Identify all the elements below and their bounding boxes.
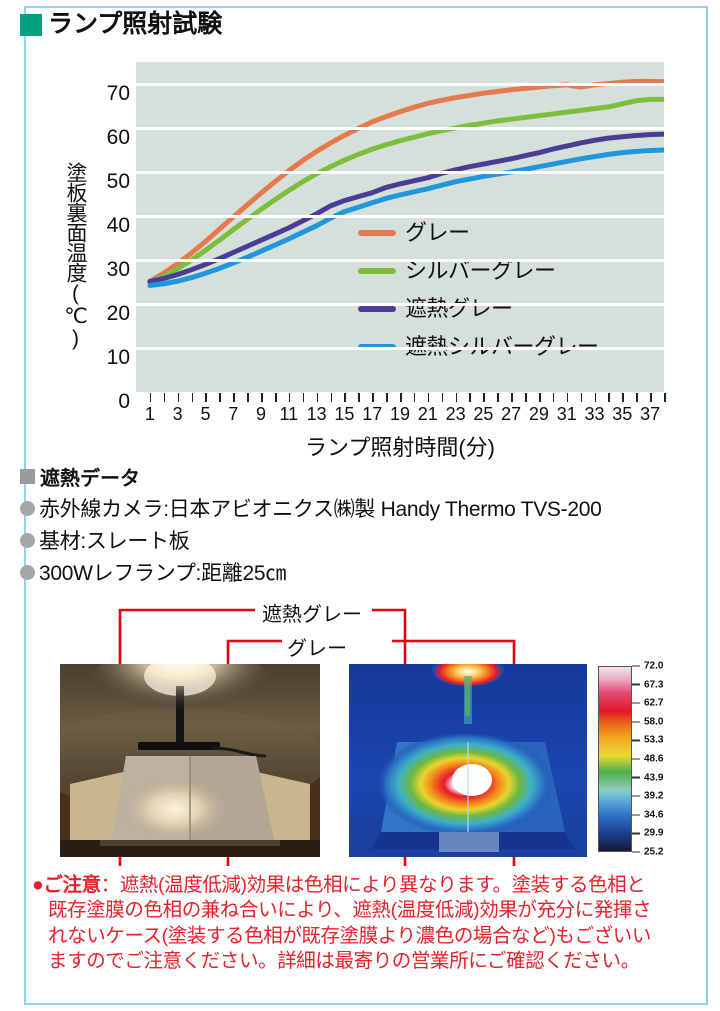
- x-tickmark-18: [386, 393, 388, 402]
- x-tick-23: 23: [446, 404, 466, 425]
- x-tickmark-32: [581, 393, 583, 402]
- data-heading-square-icon: [20, 469, 35, 484]
- x-tickmark-36: [636, 393, 638, 402]
- page-title: ランプ照射試験: [20, 12, 222, 37]
- lamp-test-photo-image: [60, 664, 320, 857]
- thermal-tick-label: 62.7: [644, 698, 663, 709]
- x-tick-29: 29: [529, 404, 549, 425]
- y-tick-30: 30: [107, 258, 130, 282]
- x-tickmark-15: [344, 393, 346, 402]
- x-tickmark-11: [289, 393, 291, 402]
- caution-line-1: ●ご注意：遮熱(温度低減)効果は色相により異なります。塗装する色相と: [32, 873, 672, 898]
- callout-label-gray: グレー: [283, 632, 351, 661]
- page-title-text: ランプ照射試験: [48, 12, 222, 37]
- gridline-40: [136, 215, 664, 218]
- caution-separator: ：: [101, 874, 120, 896]
- thermal-tick-mark-icon: [632, 851, 640, 853]
- caution-heading: ご注意: [43, 874, 100, 896]
- chart-x-axis-tickmarks: [136, 393, 664, 403]
- x-tick-5: 5: [200, 404, 210, 425]
- gridline-20: [136, 303, 664, 306]
- x-tick-21: 21: [418, 404, 438, 425]
- x-tick-37: 37: [640, 404, 660, 425]
- chart-y-axis-title: 塗板裏面温度(℃): [60, 162, 86, 349]
- title-square-icon: [20, 14, 42, 36]
- bullet-dot-icon: [20, 565, 35, 580]
- caution-line-3: れないケース(塗装する色相が既存塗膜より濃色の場合など)もございい: [48, 924, 672, 949]
- y-tick-60: 60: [107, 126, 130, 150]
- thermal-scale-tick-62.7: 62.7: [632, 698, 663, 709]
- x-tickmark-21: [428, 393, 430, 402]
- thermal-tick-label: 58.0: [644, 716, 663, 727]
- data-item-substrate: 基材:スレート板: [20, 525, 680, 555]
- thermal-tick-label: 67.3: [644, 679, 663, 690]
- legend-item-heat-shield-gray: 遮熱グレー: [358, 290, 599, 328]
- x-tick-27: 27: [501, 404, 521, 425]
- x-tick-15: 15: [334, 404, 354, 425]
- y-tick-0: 0: [118, 390, 130, 414]
- gridline-30: [136, 259, 664, 262]
- bullet-dot-icon: [20, 533, 35, 548]
- x-tick-35: 35: [612, 404, 632, 425]
- data-item-camera: 赤外線カメラ:日本アビオニクス㈱製 Handy Thermo TVS-200: [20, 493, 680, 523]
- legend-swatch-gray: [358, 230, 396, 236]
- data-heading-text: 遮熱データ: [40, 462, 140, 491]
- thermal-tick-label: 43.9: [644, 772, 663, 783]
- x-tickmark-33: [595, 393, 597, 402]
- thermal-tick-mark-icon: [632, 740, 640, 742]
- x-tickmark-2: [164, 393, 166, 402]
- x-tick-25: 25: [473, 404, 493, 425]
- gridline-50: [136, 171, 664, 174]
- x-tickmark-3: [178, 393, 180, 402]
- caution-text-1: 遮熱(温度低減)効果は色相により異なります。塗装する色相と: [120, 874, 646, 896]
- x-tickmark-22: [442, 393, 444, 402]
- chart-legend: グレー シルバーグレー 遮熱グレー 遮熱シルバーグレー: [358, 214, 599, 366]
- data-item-lamp-text: 300Wレフランプ:距離25㎝: [39, 557, 286, 587]
- thermal-scale-tick-53.3: 53.3: [632, 735, 663, 746]
- thermal-tick-mark-icon: [632, 777, 640, 779]
- x-tickmark-29: [539, 393, 541, 402]
- thermal-scale-tick-58.0: 58.0: [632, 716, 663, 727]
- thermal-image-photo: [349, 664, 587, 857]
- legend-label-heat-shield-gray: 遮熱グレー: [405, 298, 513, 320]
- x-tick-33: 33: [585, 404, 605, 425]
- x-tickmark-8: [247, 393, 249, 402]
- caution-bullet-icon: ●: [32, 874, 43, 896]
- gridline-70: [136, 83, 664, 86]
- heat-shield-data-section: 遮熱データ 赤外線カメラ:日本アビオニクス㈱製 Handy Thermo TVS…: [20, 462, 680, 587]
- x-tickmark-35: [622, 393, 624, 402]
- thermal-tick-mark-icon: [632, 833, 640, 835]
- legend-swatch-silver-gray: [358, 268, 396, 274]
- thermal-tick-label: 29.9: [644, 828, 663, 839]
- x-tickmark-13: [317, 393, 319, 402]
- thermal-tick-mark-icon: [632, 721, 640, 723]
- x-tickmark-25: [483, 393, 485, 402]
- x-tickmark-5: [205, 393, 207, 402]
- legend-item-gray: グレー: [358, 214, 599, 252]
- x-tickmark-24: [469, 393, 471, 402]
- x-tickmark-38: [664, 393, 666, 402]
- thermal-tick-label: 39.2: [644, 791, 663, 802]
- y-tick-40: 40: [107, 214, 130, 238]
- thermal-scale-ticks: 72.067.362.758.053.348.643.939.234.629.9…: [632, 666, 694, 852]
- chart-y-axis-ticks: 010203040506070: [90, 62, 130, 392]
- thermal-scale-tick-43.9: 43.9: [632, 772, 663, 783]
- x-tickmark-31: [567, 393, 569, 402]
- data-item-substrate-text: 基材:スレート板: [39, 525, 189, 555]
- bullet-dot-icon: [20, 501, 35, 516]
- thermal-scale-tick-48.6: 48.6: [632, 754, 663, 765]
- x-tick-13: 13: [307, 404, 327, 425]
- x-tickmark-19: [400, 393, 402, 402]
- x-tick-17: 17: [362, 404, 382, 425]
- thermal-scale-gradient: [598, 666, 632, 852]
- x-tickmark-26: [497, 393, 499, 402]
- y-tick-70: 70: [107, 82, 130, 106]
- thermal-scale-tick-29.9: 29.9: [632, 828, 663, 839]
- thermal-tick-mark-icon: [632, 795, 640, 797]
- x-tickmark-37: [650, 393, 652, 402]
- thermal-tick-mark-icon: [632, 684, 640, 686]
- thermal-image-graphic: [349, 664, 587, 857]
- x-tickmark-4: [192, 393, 194, 402]
- x-tickmark-30: [553, 393, 555, 402]
- lamp-test-photo: [60, 664, 320, 857]
- chart-x-axis-ticks: 135791113151719212325272931333537: [136, 404, 664, 428]
- x-tickmark-14: [331, 393, 333, 402]
- y-tick-20: 20: [107, 302, 130, 326]
- thermal-tick-mark-icon: [632, 702, 640, 704]
- thermal-tick-label: 72.0: [644, 661, 663, 672]
- x-tickmark-7: [233, 393, 235, 402]
- legend-label-silver-gray: シルバーグレー: [405, 260, 556, 282]
- x-tickmark-16: [358, 393, 360, 402]
- legend-label-gray: グレー: [405, 222, 470, 244]
- chart-x-axis-title: ランプ照射時間(分): [136, 430, 664, 462]
- data-item-camera-text: 赤外線カメラ:日本アビオニクス㈱製 Handy Thermo TVS-200: [39, 493, 601, 523]
- x-tick-19: 19: [390, 404, 410, 425]
- chart-plot-area: グレー シルバーグレー 遮熱グレー 遮熱シルバーグレー: [136, 62, 664, 392]
- thermal-tick-label: 25.2: [644, 847, 663, 858]
- thermal-tick-mark-icon: [632, 814, 640, 816]
- x-tickmark-12: [303, 393, 305, 402]
- x-tickmark-1: [150, 393, 152, 402]
- y-tick-50: 50: [107, 170, 130, 194]
- x-tick-7: 7: [228, 404, 238, 425]
- thermal-scale-tick-34.6: 34.6: [632, 809, 663, 820]
- thermal-tick-label: 34.6: [644, 809, 663, 820]
- x-tickmark-10: [275, 393, 277, 402]
- x-tickmark-17: [372, 393, 374, 402]
- x-tickmark-6: [219, 393, 221, 402]
- thermal-scale-tick-67.3: 67.3: [632, 679, 663, 690]
- thermal-tick-mark-icon: [632, 665, 640, 667]
- thermal-scale-tick-25.2: 25.2: [632, 847, 663, 858]
- data-item-lamp: 300Wレフランプ:距離25㎝: [20, 557, 680, 587]
- x-tickmark-9: [261, 393, 263, 402]
- legend-swatch-heat-shield-gray: [358, 306, 396, 312]
- caution-line-2: 既存塗膜の色相の兼ね合いにより、遮熱(温度低減)効果が充分に発揮さ: [48, 898, 672, 923]
- x-tickmark-27: [511, 393, 513, 402]
- caution-note: ●ご注意：遮熱(温度低減)効果は色相により異なります。塗装する色相と 既存塗膜の…: [32, 873, 672, 974]
- x-tickmark-28: [525, 393, 527, 402]
- x-tick-11: 11: [279, 404, 298, 425]
- x-tickmark-23: [456, 393, 458, 402]
- data-section-heading: 遮熱データ: [20, 462, 680, 491]
- thermal-tick-label: 53.3: [644, 735, 663, 746]
- x-tick-31: 31: [557, 404, 577, 425]
- x-tick-9: 9: [256, 404, 266, 425]
- callout-label-heat-shield-gray: 遮熱グレー: [258, 598, 366, 627]
- thermal-tick-label: 48.6: [644, 754, 663, 765]
- thermal-color-scale: 72.067.362.758.053.348.643.939.234.629.9…: [598, 662, 694, 860]
- x-tick-3: 3: [173, 404, 183, 425]
- thermal-tick-mark-icon: [632, 758, 640, 760]
- gridline-10: [136, 347, 664, 350]
- lamp-irradiation-chart: 塗板裏面温度(℃) 010203040506070 グレー シルバーグレー 遮熱…: [18, 52, 678, 452]
- gridline-60: [136, 127, 664, 130]
- y-tick-10: 10: [107, 346, 130, 370]
- x-tickmark-20: [414, 393, 416, 402]
- thermal-scale-tick-39.2: 39.2: [632, 791, 663, 802]
- thermal-scale-tick-72.0: 72.0: [632, 661, 663, 672]
- x-tick-1: 1: [145, 404, 155, 425]
- x-tickmark-34: [608, 393, 610, 402]
- caution-line-4: ますのでご注意ください。詳細は最寄りの営業所にご確認ください。: [48, 949, 672, 974]
